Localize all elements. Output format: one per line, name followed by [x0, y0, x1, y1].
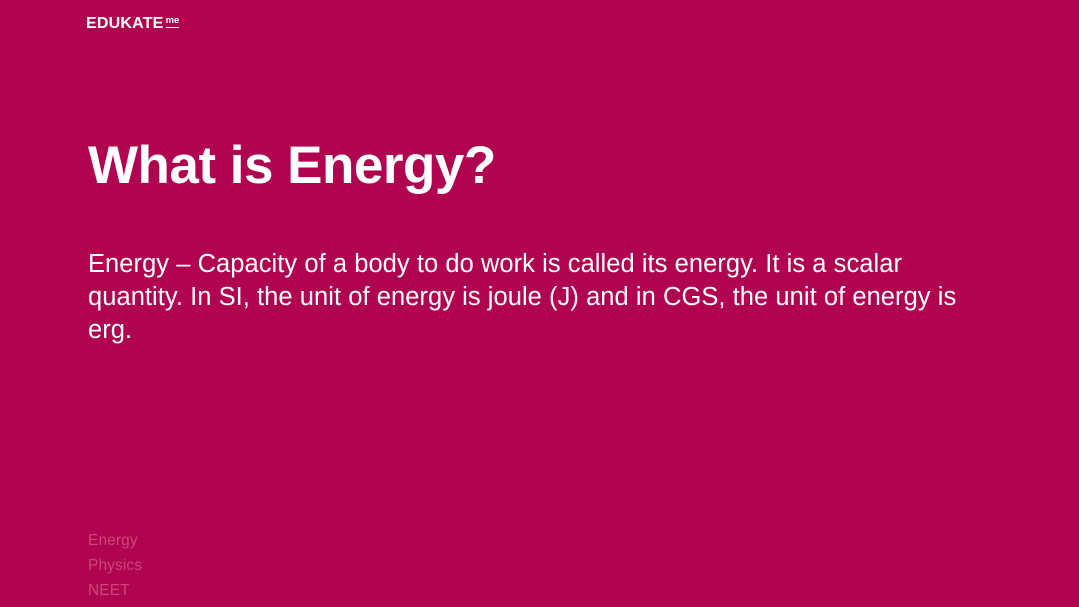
tag-item[interactable]: NEET	[88, 578, 142, 603]
brand-suffix: me	[166, 16, 180, 28]
corner-watermark: ·· · ·· ··	[1027, 588, 1065, 598]
slide-canvas: EDUKATE me What is Energy? Energy – Capa…	[0, 0, 1079, 607]
brand-name: EDUKATE	[86, 16, 164, 32]
slide-body-text: Energy – Capacity of a body to do work i…	[88, 248, 990, 347]
brand-logo[interactable]: EDUKATE me	[86, 16, 179, 32]
tag-item[interactable]: Physics	[88, 553, 142, 578]
tag-item[interactable]: Energy	[88, 528, 142, 553]
slide-title: What is Energy?	[88, 136, 496, 195]
tag-list: Energy Physics NEET	[88, 528, 142, 603]
